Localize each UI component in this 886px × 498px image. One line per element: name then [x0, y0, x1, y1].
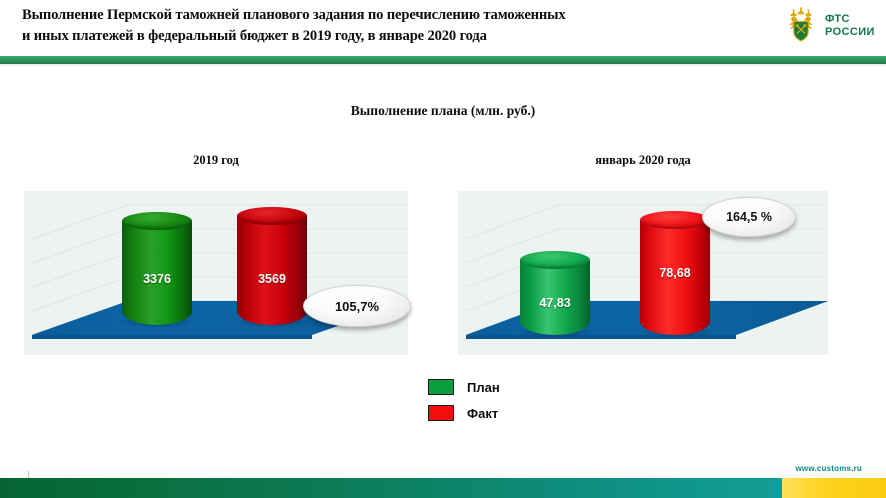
- bar-fact-2019: 3569: [237, 207, 307, 325]
- legend-label-fact: Факт: [467, 406, 498, 421]
- page-title-line-2: и иных платежей в федеральный бюджет в 2…: [22, 26, 762, 47]
- plot-gridlines-2019: [24, 191, 408, 355]
- chart-subtitle-jan2020: январь 2020 года: [458, 153, 828, 168]
- page-title-line-1: Выполнение Пермской таможней планового з…: [22, 5, 762, 26]
- bar-top-ellipse: [237, 207, 307, 225]
- bar-top-ellipse: [122, 212, 192, 230]
- bar-plan-2019: 3376: [122, 212, 192, 325]
- header-divider-shadow: [0, 64, 886, 67]
- footer-website-link[interactable]: www.customs.ru: [795, 464, 862, 473]
- footer-tick-mark: [28, 471, 29, 478]
- russian-customs-eagle-emblem-icon: [781, 7, 821, 47]
- legend-item-plan: План: [428, 374, 500, 400]
- bar-body: [237, 216, 307, 325]
- annotation-percent-jan2020: 164,5 %: [702, 197, 796, 237]
- fts-logo: ФТС РОССИИ: [781, 7, 877, 47]
- bar-value-fact-2019: 3569: [237, 272, 307, 286]
- chart-panel-2019: 3376 3569: [24, 191, 408, 355]
- annotation-percent-2019: 105,7%: [303, 285, 411, 327]
- header-divider: [0, 56, 886, 64]
- bar-value-plan-jan2020: 47,83: [520, 296, 590, 310]
- slide-header: Выполнение Пермской таможней планового з…: [0, 0, 886, 52]
- bar-value-fact-jan2020: 78,68: [640, 266, 710, 280]
- chart-legend: План Факт: [428, 374, 500, 426]
- bar-top-ellipse: [640, 211, 710, 229]
- fts-logo-text: ФТС РОССИИ: [825, 13, 875, 39]
- footer-accent-bar: [782, 478, 886, 498]
- fts-logo-line-1: ФТС: [825, 13, 875, 26]
- slide-root: Выполнение Пермской таможней планового з…: [0, 0, 886, 498]
- page-title: Выполнение Пермской таможней планового з…: [22, 5, 762, 47]
- bar-plan-jan2020: 47,83: [520, 251, 590, 335]
- bar-value-plan-2019: 3376: [122, 272, 192, 286]
- legend-item-fact: Факт: [428, 400, 500, 426]
- chart-subtitle-2019: 2019 год: [24, 153, 408, 168]
- bar-fact-jan2020: 78,68: [640, 211, 710, 335]
- footer-gradient-bar: [0, 478, 886, 498]
- footer-strip: [0, 468, 886, 478]
- chart-title: Выполнение плана (млн. руб.): [0, 103, 886, 119]
- fts-logo-line-2: РОССИИ: [825, 26, 875, 39]
- legend-swatch-fact: [428, 405, 454, 421]
- legend-label-plan: План: [467, 380, 500, 395]
- bar-top-ellipse: [520, 251, 590, 269]
- legend-swatch-plan: [428, 379, 454, 395]
